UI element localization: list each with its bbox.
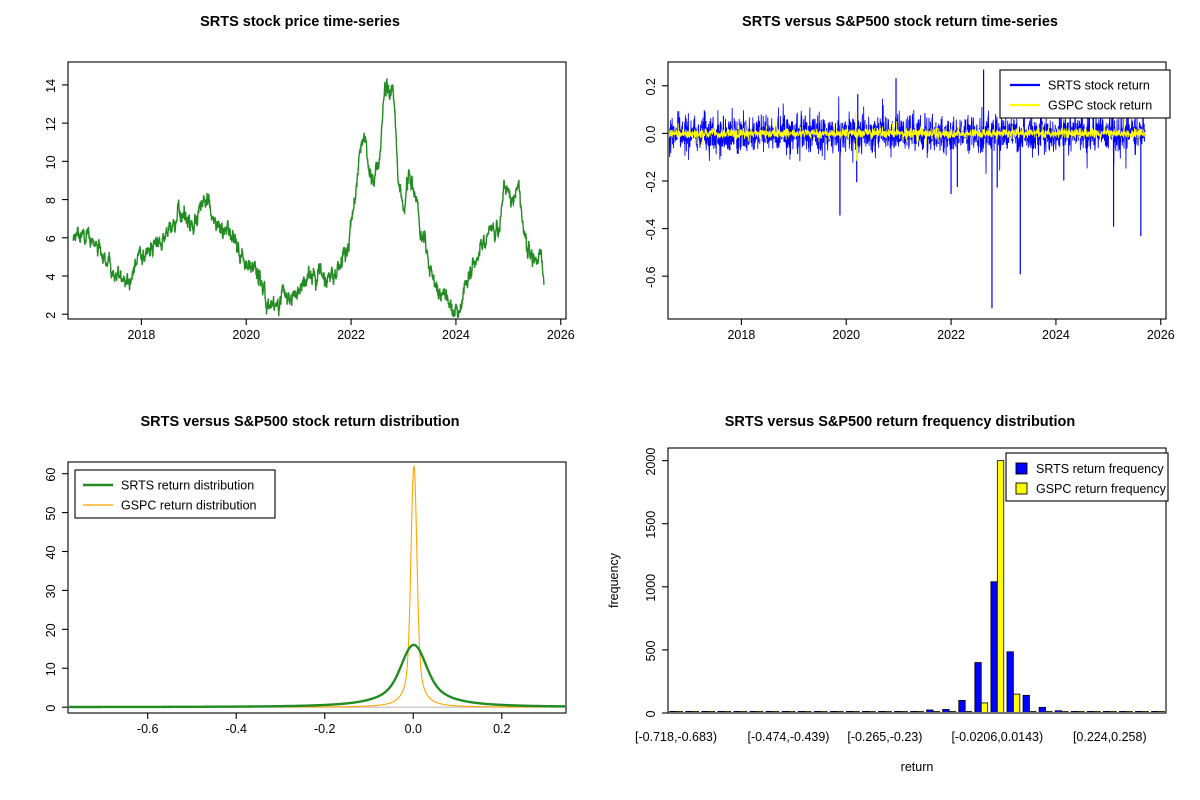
- returns-legend: SRTS stock returnGSPC stock return: [1000, 70, 1170, 118]
- y-tick-label: 10: [44, 662, 58, 676]
- y-tick-label: 30: [44, 584, 58, 598]
- x-axis-title: return: [901, 760, 934, 774]
- x-tick-label: 2018: [727, 328, 755, 342]
- legend-swatch-gspc: [1016, 483, 1027, 494]
- y-tick-label: 0.2: [644, 78, 658, 95]
- legend-label: GSPC stock return: [1048, 99, 1152, 113]
- legend-label: GSPC return frequency: [1036, 482, 1167, 496]
- y-tick-label: 12: [44, 117, 58, 131]
- x-tick-label: -0.2: [314, 722, 336, 736]
- x-tick-label: [-0.0206,0.0143): [951, 730, 1043, 744]
- panel-return-distribution: SRTS versus S&P500 stock return distribu…: [0, 400, 600, 800]
- legend-swatch-srts: [1016, 463, 1027, 474]
- y-tick-label: 14: [44, 79, 58, 93]
- y-tick-label: 50: [44, 507, 58, 521]
- x-tick-label: 2024: [1042, 328, 1070, 342]
- histogram-legend: SRTS return frequencyGSPC return frequen…: [1006, 453, 1168, 501]
- x-tick-label: 2020: [232, 328, 260, 342]
- y-tick-label: -0.6: [644, 266, 658, 288]
- hist-bar-srts: [1023, 695, 1029, 713]
- y-tick-label: -0.4: [644, 219, 658, 241]
- hist-bar-gspc: [997, 461, 1003, 713]
- y-tick-label: 6: [44, 235, 58, 242]
- y-tick-label: 10: [44, 155, 58, 169]
- y-tick-label: 8: [44, 197, 58, 204]
- x-tick-label: 2022: [937, 328, 965, 342]
- x-tick-label: [0.224,0.258): [1073, 730, 1147, 744]
- price-chart-svg: 201820202022202420262468101214: [0, 0, 600, 400]
- x-tick-label: [-0.265,-0.23): [847, 730, 922, 744]
- returns-chart-svg: 201820202022202420260.20.0-0.2-0.4-0.6SR…: [600, 0, 1200, 400]
- x-tick-label: [-0.474,-0.439): [747, 730, 829, 744]
- hist-bar-srts: [1007, 652, 1013, 713]
- x-tick-label: 2026: [547, 328, 575, 342]
- figure-canvas: SRTS stock price time-series 20182020202…: [0, 0, 1200, 800]
- density-line-srts: [68, 645, 566, 707]
- legend-label: SRTS stock return: [1048, 79, 1150, 93]
- x-tick-label: -0.6: [137, 722, 159, 736]
- density-legend: SRTS return distributionGSPC return dist…: [75, 470, 275, 518]
- y-tick-label: 2000: [644, 448, 658, 476]
- y-tick-label: 60: [44, 468, 58, 482]
- hist-bar-gspc: [981, 703, 987, 713]
- y-tick-label: 4: [44, 273, 58, 280]
- hist-bar-gspc: [1013, 694, 1019, 713]
- y-tick-label: 1500: [644, 511, 658, 539]
- y-tick-label: 0.0: [644, 126, 658, 143]
- y-tick-label: -0.2: [644, 171, 658, 193]
- legend-label: GSPC return distribution: [121, 499, 257, 513]
- x-tick-label: 2024: [442, 328, 470, 342]
- y-axis-title: frequency: [607, 552, 621, 608]
- hist-bar-srts: [975, 663, 981, 713]
- y-tick-label: 0: [644, 710, 658, 717]
- x-tick-label: 2022: [337, 328, 365, 342]
- y-tick-label: 0: [44, 705, 58, 712]
- x-tick-label: [-0.718,-0.683): [635, 730, 717, 744]
- x-tick-label: 0.2: [493, 722, 510, 736]
- hist-bar-srts: [991, 582, 997, 713]
- panel-srts-price: SRTS stock price time-series 20182020202…: [0, 0, 600, 400]
- y-tick-label: 1000: [644, 574, 658, 602]
- x-tick-label: 2020: [832, 328, 860, 342]
- x-tick-label: 2026: [1147, 328, 1175, 342]
- x-tick-label: -0.4: [225, 722, 247, 736]
- density-chart-svg: -0.6-0.4-0.20.00.20102030405060SRTS retu…: [0, 400, 600, 800]
- legend-label: SRTS return distribution: [121, 479, 254, 493]
- y-tick-label: 40: [44, 546, 58, 560]
- y-tick-label: 20: [44, 623, 58, 637]
- x-tick-label: 0.0: [405, 722, 422, 736]
- y-tick-label: 2: [44, 312, 58, 319]
- panel-return-frequency: SRTS versus S&P500 return frequency dist…: [600, 400, 1200, 800]
- panel-srts-gspc-returns: SRTS versus S&P500 stock return time-ser…: [600, 0, 1200, 400]
- price-line-srts: [73, 78, 544, 317]
- hist-bar-srts: [1039, 707, 1045, 713]
- y-tick-label: 500: [644, 640, 658, 661]
- x-tick-label: 2018: [127, 328, 155, 342]
- histogram-chart-svg: 0500100015002000[-0.718,-0.683)[-0.474,-…: [600, 400, 1200, 800]
- legend-label: SRTS return frequency: [1036, 462, 1164, 476]
- hist-bar-srts: [959, 700, 965, 713]
